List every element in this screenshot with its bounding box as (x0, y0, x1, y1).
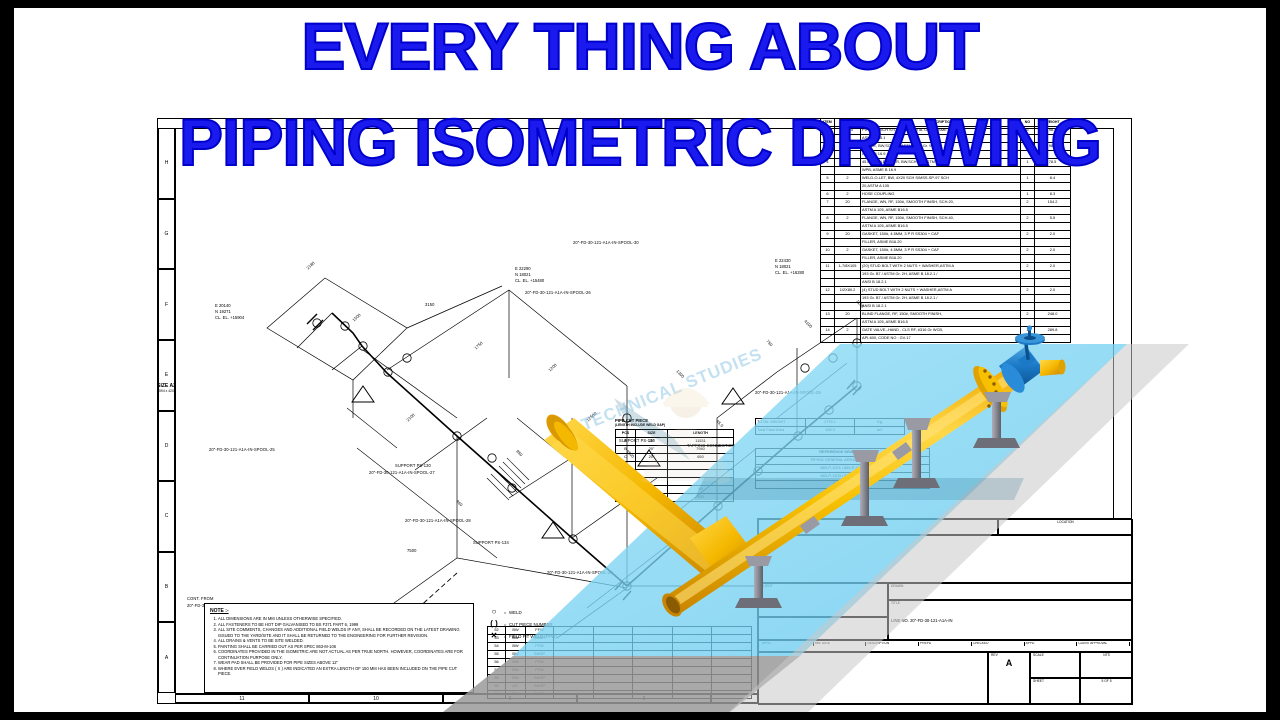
bom-cell-desc: GASKET, 150#, 4.5MM, 3 P R SS304 + CAF (861, 231, 1021, 239)
bom-cell-item: 6 (821, 191, 835, 199)
tb-rev-cell: REV A (988, 652, 1030, 705)
tb-location-cell: LOCATION (998, 519, 1133, 535)
bom-row: 193 Gr. B7 / ASTM Gr. 2H, ASME B 18.2.1 … (821, 271, 1071, 279)
weld-row: 56BWFFW (488, 659, 752, 667)
bom-cell-desc: (20) STUD BOLT WITH 2 NUTS + WASHER,ASTM… (861, 263, 1021, 271)
note-item: ALL SITE COMMENTS, CHANGES AND ADDITIONA… (218, 627, 468, 638)
bom-row: ASTM A 105, ASME B16.5 (821, 319, 1071, 327)
weld-cell-blank (593, 635, 633, 643)
weld-cell-blank (712, 683, 752, 691)
title-block: REVISION LOCATION DESCRIPTION CLIENT DRA… (757, 518, 1132, 704)
bom-cell-qty: 1/2X80.2 (835, 287, 861, 295)
weld-row: 55BWSHOP (488, 651, 752, 659)
weld-cell-blank (672, 635, 712, 643)
weld-cell-no: 56 (488, 659, 506, 667)
tb-footer-col: CLIENT APPROVAL (1077, 642, 1130, 646)
watermark-worker-icon (574, 343, 804, 493)
notes-box: NOTE :- ALL DIMENSIONS ARE IN MM UNLESS … (204, 603, 474, 693)
weld-cell-blank (712, 691, 752, 699)
tb-title-label: TITLE (891, 602, 1130, 606)
weld-cell-blank (672, 683, 712, 691)
notes-list: ALL DIMENSIONS ARE IN MM UNLESS OTHERWIS… (210, 616, 468, 677)
tb-footer-col: APPD. (761, 642, 814, 646)
weight-cell-value: 1776.1 (805, 419, 855, 427)
weld-cell-type: BW (506, 675, 526, 683)
weld-row: 591/2"SHOP (488, 683, 752, 691)
tb-drawn-label: DRAWN (891, 585, 1130, 589)
bom-cell-qty (835, 223, 861, 231)
bom-cell-wt (1035, 303, 1071, 311)
weld-cell-blank (712, 643, 752, 651)
weight-cell-unit: Kg (855, 419, 905, 427)
tb-scale-label: SCALE (1033, 654, 1077, 658)
weld-cell-blank (554, 643, 594, 651)
cut-piece-row: 100 (616, 493, 734, 501)
bom-cell-no (1021, 239, 1035, 247)
weld-row: 53BWSHOP (488, 635, 752, 643)
tb-location-label: LOCATION (1001, 521, 1130, 525)
weld-cell-no: 52 (488, 627, 506, 635)
bom-cell-wt: 8.3 (1035, 191, 1071, 199)
bom-cell-qty (835, 295, 861, 303)
weld-cell-blank (593, 667, 633, 675)
title-line-2: PIPING ISOMETRIC DRAWING (0, 104, 1280, 180)
iso-label-support-ps-130: SUPPORT PS-130 (395, 463, 431, 468)
tb-scale-label-cell: SCALE (1030, 652, 1080, 678)
bom-row: 1320BLIND FLANGE, RF, 150#, SMOOTH FINIS… (821, 311, 1071, 319)
bom-cell-no (1021, 319, 1035, 327)
tb-sheet-label-cell: SHEET (1030, 678, 1080, 705)
weld-cell-loc: FFW (526, 659, 554, 667)
bom-cell-desc: BLIND FLANGE, RF, 150#, SMOOTH FINISH, (861, 311, 1021, 319)
bom-cell-desc: GASKET, 150#, 4.5MM, 3 P R SS304 + CAF (861, 247, 1021, 255)
weld-cell-blank (672, 659, 712, 667)
bom-cell-desc: FILLER, ASME B16.20 (861, 239, 1021, 247)
tb-footer-col: DESCRIPTION (866, 642, 919, 646)
bom-row: 111-7/8X105(20) STUD BOLT WITH 2 NUTS + … (821, 263, 1071, 271)
tb-client-cell: CLIENT (758, 583, 888, 617)
weld-cell-type: BW (506, 643, 526, 651)
bom-row: 142GATE VALVE--HAND , CLS RF, #316 Gr WC… (821, 327, 1071, 335)
bom-cell-item (821, 255, 835, 263)
bom-cell-item: 9 (821, 231, 835, 239)
weld-cell-no: 54 (488, 643, 506, 651)
weld-cell-blank (633, 675, 673, 683)
weld-table: 52BWFFW53BWSHOP54BWFFW55BWSHOP56BWFFW57B… (487, 626, 752, 699)
bom-cell-desc: ASTM A 105, ASME B16.5 (861, 223, 1021, 231)
bom-cell-no: 2 (1021, 263, 1035, 271)
watermark: TECHNICAL STUDIES (574, 343, 804, 493)
weld-cell-blank (593, 683, 633, 691)
weld-cell-blank (633, 691, 673, 699)
weld-cell-blank (633, 643, 673, 651)
bom-cell-desc: FILLER, ASME B16.20 (861, 255, 1021, 263)
iso-dimension-label: 7500 (407, 548, 417, 553)
bom-cell-item (821, 303, 835, 311)
bom-cell-qty (835, 255, 861, 263)
bom-cell-no: 1 (1021, 327, 1035, 335)
weld-cell-blank (633, 635, 673, 643)
weld-cell-loc: FFW (526, 627, 554, 635)
bom-cell-wt: 154.2 (1035, 199, 1071, 207)
bom-cell-item (821, 239, 835, 247)
bom-cell-no (1021, 295, 1035, 303)
bom-row: 720FLANGE, WN, RF, 150#, SMOOTH FINISH, … (821, 199, 1071, 207)
bom-row: 20,ASTM A 105 (821, 183, 1071, 191)
weld-cell-blank (712, 659, 752, 667)
iso-label-spool-24: 20"-FD-30-121-A1A-IN-SPOOL-24 (547, 570, 613, 575)
bom-cell-no (1021, 255, 1035, 263)
weld-cell-blank (593, 691, 633, 699)
weld-cell-blank (712, 627, 752, 635)
tb-footer-col: PREPD (919, 642, 972, 646)
tb-description-label: DESCRIPTION (761, 537, 1130, 541)
bom-cell-no (1021, 335, 1035, 343)
weld-cell-blank (672, 667, 712, 675)
bom-row: ANSI B 18.2.1 (821, 303, 1071, 311)
weld-cell-blank (672, 691, 712, 699)
iso-label-spool-28: 20"-FD-30-121-A1A-IN-SPOOL-28 (405, 518, 471, 523)
bom-row: FILLER, ASME B16.20 (821, 255, 1071, 263)
weld-cell-blank (554, 691, 594, 699)
bom-cell-wt (1035, 183, 1071, 191)
weld-cell-type: BW (506, 667, 526, 675)
bom-cell-item (821, 183, 835, 191)
legend-row: ○=WELD (487, 606, 612, 618)
weld-cell-type: BW (506, 651, 526, 659)
bom-cell-qty: 2 (835, 215, 861, 223)
weight-cell-value: 128.3 (805, 427, 855, 435)
tb-drawn-cell: DRAWN (888, 583, 1133, 600)
iso-label-cont-from-1: CONT. FROM (187, 596, 213, 601)
bom-row: 121/2X80.2(4) STUD BOLT WITH 2 NUTS + WA… (821, 287, 1071, 295)
tb-sheet-value-cell: 5 OF 5 (1080, 678, 1133, 705)
iso-coordinate-block-a: E 20140 N 19271 CL. EL. +15904 (215, 303, 244, 321)
bom-cell-qty: 2 (835, 247, 861, 255)
bom-cell-wt: 5.5 (1035, 215, 1071, 223)
bom-cell-desc: 193 Gr. B7 / ASTM Gr. 2H, ASME B 18.2.1 … (861, 295, 1021, 303)
tb-revision-label: REVISION (761, 521, 995, 525)
weld-cell-blank (554, 635, 594, 643)
bom-cell-wt: 2.0 (1035, 231, 1071, 239)
weld-row: 52BWFFW (488, 627, 752, 635)
bom-cell-desc: API-600, CODE NO : GV-17 (861, 335, 1021, 343)
weight-cell-unit: m2 (855, 427, 905, 435)
bom-cell-wt: 2.0 (1035, 247, 1071, 255)
weld-cell-blank (712, 635, 752, 643)
bom-cell-qty: 20 (835, 199, 861, 207)
bom-cell-wt (1035, 207, 1071, 215)
bom-cell-no: 2 (1021, 311, 1035, 319)
bom-cell-no: 2 (1021, 231, 1035, 239)
bom-cell-wt (1035, 271, 1071, 279)
legend-symbol-icon: ○ (487, 608, 501, 616)
bom-cell-desc: 193 Gr. B7 / ASTM Gr. 2H, ASME B 18.2.1 … (861, 271, 1021, 279)
weld-cell-blank (672, 675, 712, 683)
bom-cell-no: 2 (1021, 287, 1035, 295)
bom-row: ASTM A 105, ASME B16.5 (821, 207, 1071, 215)
bom-cell-qty (835, 319, 861, 327)
weld-table-wrap: 52BWFFW53BWSHOP54BWFFW55BWSHOP56BWFFW57B… (487, 626, 752, 699)
weld-cell-type: BW (506, 691, 526, 699)
bom-cell-no (1021, 279, 1035, 287)
bom-cell-qty (835, 303, 861, 311)
tb-revision-cell: REVISION (758, 519, 998, 535)
iso-label-support-ps-134: SUPPORT PS-134 (473, 540, 509, 545)
bom-cell-no (1021, 303, 1035, 311)
tb-footer-col: APPD (1025, 642, 1078, 646)
weld-cell-loc: FFW (526, 667, 554, 675)
bom-row: 920GASKET, 150#, 4.5MM, 3 P R SS304 + CA… (821, 231, 1071, 239)
bom-cell-desc: 20,ASTM A 105 (861, 183, 1021, 191)
weld-cell-blank (672, 643, 712, 651)
bom-cell-desc: ASTM A 105, ASME B16.5 (861, 319, 1021, 327)
weld-cell-type: BW (506, 659, 526, 667)
bom-cell-wt (1035, 319, 1071, 327)
bom-cell-no (1021, 271, 1035, 279)
weld-cell-blank (593, 643, 633, 651)
tb-footer-col: Rev. DATE (814, 642, 867, 646)
bom-cell-item (821, 271, 835, 279)
bom-cell-wt: 248.0 (1035, 311, 1071, 319)
weld-row: 60BWSHOP (488, 691, 752, 699)
iso-label-spool-25: 20"-FD-30-121-A1A-IN-SPOOL-25 (209, 447, 275, 452)
bom-cell-wt (1035, 255, 1071, 263)
weld-cell-no: 57 (488, 667, 506, 675)
weld-cell-blank (672, 627, 712, 635)
iso-label-spool-26: 20"-FD-30-121-A1A-IN-SPOOL-26 (525, 290, 591, 295)
tb-footer-col: CHECKED (972, 642, 1025, 646)
weld-row: 54BWFFW (488, 643, 752, 651)
bom-cell-no (1021, 183, 1035, 191)
weld-cell-blank (554, 659, 594, 667)
bom-cell-item (821, 223, 835, 231)
weld-cell-loc: SHOP (526, 683, 554, 691)
bom-row: ANSI B 18.2.1 (821, 279, 1071, 287)
bom-cell-wt (1035, 239, 1071, 247)
weld-cell-type: BW (506, 627, 526, 635)
weld-cell-loc: SHOP (526, 691, 554, 699)
cut-piece-cell-length: 100 (668, 493, 734, 501)
bom-row: 193 Gr. B7 / ASTM Gr. 2H, ASME B 18.2.1 … (821, 295, 1071, 303)
weld-cell-blank (633, 667, 673, 675)
bom-cell-item (821, 295, 835, 303)
weld-row: 57BWFFW (488, 667, 752, 675)
weld-cell-blank (554, 675, 594, 683)
weld-cell-blank (712, 667, 752, 675)
bom-cell-wt (1035, 295, 1071, 303)
bom-cell-wt (1035, 223, 1071, 231)
weld-cell-blank (554, 627, 594, 635)
bom-cell-item: 8 (821, 215, 835, 223)
bom-cell-no (1021, 223, 1035, 231)
note-item: COORDINATES PROVIDED IN THE ISOMETRIC AR… (218, 649, 468, 660)
bom-cell-qty (835, 207, 861, 215)
bom-row: API-600, CODE NO : GV-17 (821, 335, 1071, 343)
cut-piece-cell-pcs (616, 493, 636, 501)
weld-cell-blank (554, 651, 594, 659)
bom-cell-item: 11 (821, 263, 835, 271)
weld-cell-type: BW (506, 635, 526, 643)
bom-cell-qty (835, 183, 861, 191)
iso-dimension-label: 3150 (425, 302, 435, 307)
bom-cell-wt: 2.0 (1035, 263, 1071, 271)
bom-cell-item (821, 319, 835, 327)
weld-cell-no: 58 (488, 675, 506, 683)
legend-text: WELD (509, 610, 522, 615)
bom-cell-desc: FLANGE, WN, RF, 150#, SMOOTH FINISH, SCH… (861, 215, 1021, 223)
weld-cell-blank (633, 651, 673, 659)
bom-cell-item: 12 (821, 287, 835, 295)
bom-cell-no: 2 (1021, 199, 1035, 207)
bom-cell-qty (835, 279, 861, 287)
bom-cell-item (821, 207, 835, 215)
tb-rev-value: A (991, 658, 1027, 669)
bom-cell-wt: 289.8 (1035, 327, 1071, 335)
bom-cell-wt (1035, 279, 1071, 287)
weld-row: 58BWSHOP (488, 675, 752, 683)
bom-cell-item: 10 (821, 247, 835, 255)
tb-footer-blank (758, 652, 988, 705)
bom-cell-no: 2 (1021, 215, 1035, 223)
bom-cell-item: 7 (821, 199, 835, 207)
tb-scale-value: NTS (1083, 654, 1130, 658)
weld-cell-blank (593, 675, 633, 683)
bom-cell-desc: (4) STUD BOLT WITH 2 NUTS + WASHER,ASTM … (861, 287, 1021, 295)
tb-line-no: LINE NO. 20"-FD-30-121-A1A-IN (891, 618, 1130, 623)
weld-cell-blank (633, 683, 673, 691)
tb-client-blank (758, 617, 888, 640)
bom-cell-qty: 20 (835, 231, 861, 239)
tb-sheet-label: SHEET (1033, 680, 1077, 684)
tb-description-cell: DESCRIPTION (758, 535, 1133, 583)
weld-cell-loc: FFW (526, 643, 554, 651)
weld-cell-blank (712, 651, 752, 659)
notes-heading: NOTE :- (210, 608, 468, 614)
bom-cell-qty: 20 (835, 311, 861, 319)
bom-cell-item: 13 (821, 311, 835, 319)
bom-cell-item (821, 279, 835, 287)
bom-cell-qty (835, 271, 861, 279)
iso-coordinate-block-c: E 22430 N 18021 CL. EL. +16280 (775, 258, 804, 276)
iso-label-spool-27: 20"-FD-30-121-A1A-IN-SPOOL-27 (369, 470, 435, 475)
bom-cell-desc: FLANGE, WN, RF, 150#, SMOOTH FINISH, SCH… (861, 199, 1021, 207)
bom-cell-qty: 2 (835, 327, 861, 335)
weld-cell-loc: SHOP (526, 675, 554, 683)
bom-cell-qty (835, 239, 861, 247)
bom-cell-no: 1 (1021, 191, 1035, 199)
weld-cell-no: 53 (488, 635, 506, 643)
tb-client-label: CLIENT (761, 585, 885, 589)
iso-label-spool-30: 20"-FD-30-121-A1A-IN-SPOOL-30 (573, 240, 639, 245)
weld-cell-no: 60 (488, 691, 506, 699)
weld-cell-type: 1/2" (506, 683, 526, 691)
bom-cell-qty: 1-7/8X105 (835, 263, 861, 271)
iso-coordinate-block-b: E 22290 N 18021 CL. EL. +15480 (515, 266, 544, 284)
bom-cell-desc: GATE VALVE--HAND , CLS RF, #316 Gr WCB, (861, 327, 1021, 335)
weld-cell-no: 55 (488, 651, 506, 659)
bom-cell-item: 14 (821, 327, 835, 335)
weld-cell-blank (593, 651, 633, 659)
title-line-1: EVERY THING ABOUT (0, 8, 1280, 84)
weld-cell-blank (712, 675, 752, 683)
bom-cell-desc: ASTM A 105, ASME B16.5 (861, 207, 1021, 215)
bom-row: ASTM A 105, ASME B16.5 (821, 223, 1071, 231)
weld-cell-blank (593, 659, 633, 667)
note-item: WHERE EVER FIELD WELDS ( X ) ARE INDICAT… (218, 666, 468, 677)
bom-cell-desc: HOSE COUPLING (861, 191, 1021, 199)
screenshot-stage: HGFEDCBA 111098765 SIZE A2 594 x 420 (0, 0, 1280, 720)
bom-cell-wt: 2.0 (1035, 287, 1071, 295)
bom-row: FILLER, ASME B16.20 (821, 239, 1071, 247)
bom-row: 102GASKET, 150#, 4.5MM, 3 P R SS304 + CA… (821, 247, 1071, 255)
bom-cell-item (821, 335, 835, 343)
weld-cell-blank (633, 627, 673, 635)
bom-cell-qty (835, 335, 861, 343)
cut-piece-cell-size (636, 493, 668, 501)
bom-cell-no: 2 (1021, 247, 1035, 255)
bom-cell-wt (1035, 335, 1071, 343)
tb-footer-cols: APPD.Rev. DATEDESCRIPTIONPREPDCHECKEDAPP… (758, 640, 1133, 652)
legend-equals: = (501, 610, 509, 615)
weld-cell-no: 59 (488, 683, 506, 691)
weld-cell-blank (633, 659, 673, 667)
weld-cell-blank (554, 667, 594, 675)
tb-title-cell: TITLE LINE NO. 20"-FD-30-121-A1A-IN (888, 600, 1133, 640)
bom-cell-qty: 2 (835, 191, 861, 199)
weld-cell-blank (593, 627, 633, 635)
bom-row: 62HOSE COUPLING18.3 (821, 191, 1071, 199)
weld-cell-blank (554, 683, 594, 691)
weld-cell-loc: SHOP (526, 651, 554, 659)
weld-cell-loc: SHOP (526, 635, 554, 643)
bom-cell-no (1021, 207, 1035, 215)
tb-scale-value-cell: NTS (1080, 652, 1133, 678)
weld-cell-blank (672, 651, 712, 659)
tb-sheet-value: 5 OF 5 (1083, 680, 1130, 684)
bom-cell-desc: ANSI B 18.2.1 (861, 279, 1021, 287)
bom-cell-desc: ANSI B 18.2.1 (861, 303, 1021, 311)
bom-row: 82FLANGE, WN, RF, 150#, SMOOTH FINISH, S… (821, 215, 1071, 223)
